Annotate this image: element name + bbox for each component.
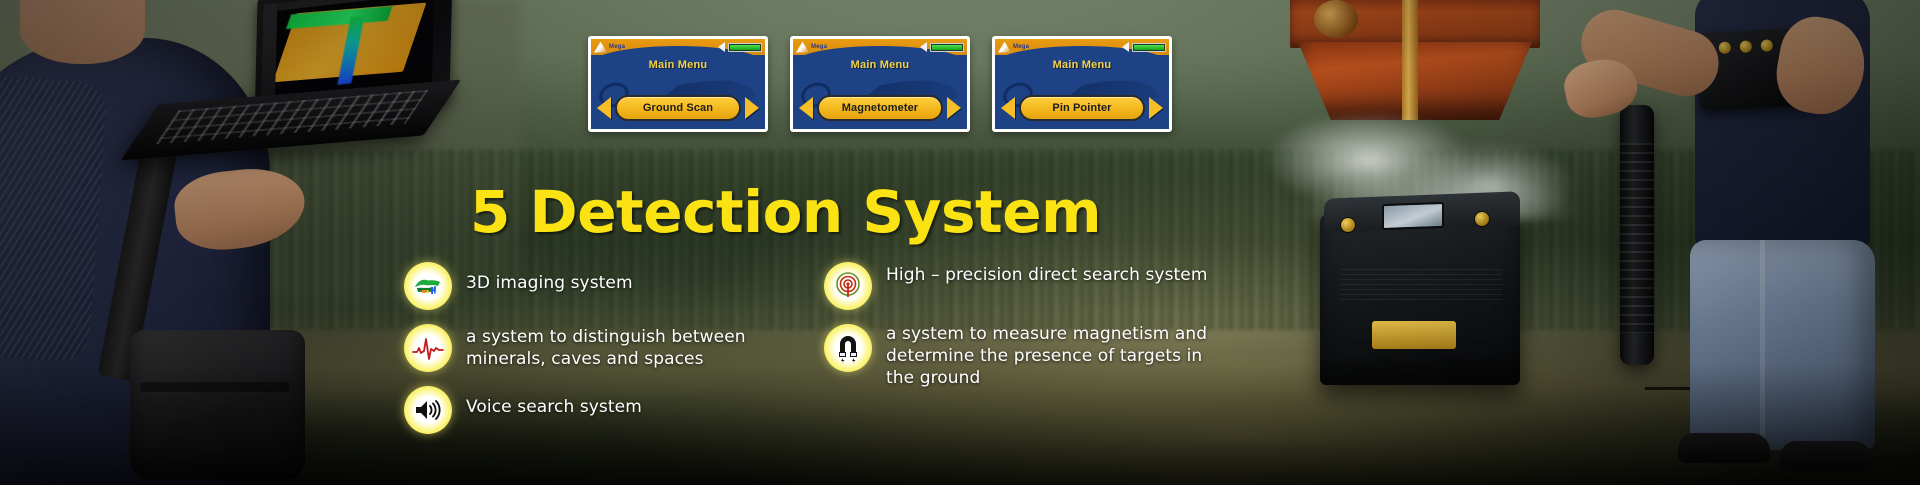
menu-title: Main Menu <box>591 59 765 71</box>
mode-selector-row: Ground Scan <box>591 95 765 121</box>
page-title: 5 Detection System <box>470 178 1101 246</box>
laptop-keyboard <box>156 90 429 145</box>
man-shoe-right <box>1780 441 1872 471</box>
brand-logo-icon <box>594 42 607 53</box>
shirt-seam <box>0 73 108 363</box>
device-body <box>1320 213 1520 385</box>
mode-button[interactable]: Pin Pointer <box>1019 95 1145 121</box>
detector-knob-1 <box>1719 41 1732 54</box>
feature-column-left: 3D imaging system a system to distinguis… <box>404 262 804 448</box>
equipment-bag <box>130 330 305 480</box>
brand-logo-label: Mega <box>811 44 827 50</box>
chevron-left-icon[interactable] <box>799 97 813 119</box>
menu-status-bar: Mega <box>995 39 1169 55</box>
chevron-right-icon[interactable] <box>947 97 961 119</box>
man-jeans <box>1690 240 1875 450</box>
mode-selector-row: Magnetometer <box>793 95 967 121</box>
device-menu-screenshots: Mega Main Menu Ground Scan Mega <box>588 36 1172 132</box>
mode-button[interactable]: Ground Scan <box>615 95 741 121</box>
speaker-icon <box>718 42 725 52</box>
brand-logo: Mega <box>998 42 1029 53</box>
brand-logo-label: Mega <box>1013 44 1029 50</box>
feature-item-mineral-cave-distinguish: a system to distinguish between minerals… <box>404 324 804 372</box>
feature-item-3d-imaging: 3D imaging system <box>404 262 804 310</box>
device-knob-right <box>1474 211 1490 227</box>
chevron-left-icon[interactable] <box>597 97 611 119</box>
menu-card-magnetometer[interactable]: Mega Main Menu Magnetometer <box>790 36 970 132</box>
laptop <box>148 0 448 156</box>
chest-band <box>1402 0 1418 120</box>
speaker-volume-icon <box>404 386 452 434</box>
feature-column-right: High – precision direct search system a … <box>824 262 1224 397</box>
menu-status-bar: Mega <box>591 39 765 55</box>
menu-title: Main Menu <box>995 59 1169 71</box>
man-neck <box>20 0 145 64</box>
chevron-left-icon[interactable] <box>1001 97 1015 119</box>
brand-logo: Mega <box>796 42 827 53</box>
magnet-icon <box>824 324 872 372</box>
feature-label: High – precision direct search system <box>886 262 1208 287</box>
treasure-chest <box>1290 0 1540 124</box>
detector-knob-3 <box>1760 39 1773 52</box>
man-shoe-left <box>1678 433 1770 463</box>
device-grill <box>1340 269 1502 303</box>
status-indicators <box>718 42 762 52</box>
feature-label: 3D imaging system <box>466 262 633 295</box>
menu-card-pin-pointer[interactable]: Mega Main Menu Pin Pointer <box>992 36 1172 132</box>
man-with-laptop-photo <box>0 0 470 485</box>
battery-full-icon <box>1132 43 1166 52</box>
waveform-pulse-icon <box>404 324 452 372</box>
battery-full-icon <box>930 43 964 52</box>
feature-item-voice-search: Voice search system <box>404 386 804 434</box>
battery-full-icon <box>728 43 762 52</box>
feature-item-magnetism-measure: a system to measure magnetism and determ… <box>824 324 1224 389</box>
feature-label: a system to measure magnetism and determ… <box>886 324 1224 389</box>
detector-knobs <box>1719 39 1784 54</box>
speaker-icon <box>920 42 927 52</box>
device-badge <box>1372 321 1456 349</box>
brand-logo-icon <box>796 42 809 53</box>
man-with-detector-photo <box>1660 0 1920 485</box>
brand-logo-label: Mega <box>609 44 625 50</box>
feature-item-high-precision-direct-search: High – precision direct search system <box>824 262 1224 310</box>
status-indicators <box>1122 42 1166 52</box>
detector-promo-banner: Mega Main Menu Ground Scan Mega <box>0 0 1920 485</box>
terrain-3d-icon <box>404 262 452 310</box>
mode-button[interactable]: Magnetometer <box>817 95 943 121</box>
menu-card-ground-scan[interactable]: Mega Main Menu Ground Scan <box>588 36 768 132</box>
feature-label: a system to distinguish between minerals… <box>466 324 804 371</box>
mode-selector-row: Pin Pointer <box>995 95 1169 121</box>
device-knob-left <box>1340 217 1356 233</box>
brand-logo: Mega <box>594 42 625 53</box>
menu-title: Main Menu <box>793 59 967 71</box>
detector-knob-2 <box>1740 40 1753 53</box>
status-indicators <box>920 42 964 52</box>
feature-label: Voice search system <box>466 386 642 419</box>
device-display <box>1382 202 1444 230</box>
menu-status-bar: Mega <box>793 39 967 55</box>
chevron-right-icon[interactable] <box>1149 97 1163 119</box>
speaker-icon <box>1122 42 1129 52</box>
radar-signal-icon <box>824 262 872 310</box>
chest-lock <box>1314 0 1358 38</box>
ground-detector-device <box>1320 195 1530 390</box>
chevron-right-icon[interactable] <box>745 97 759 119</box>
brand-logo-icon <box>998 42 1011 53</box>
